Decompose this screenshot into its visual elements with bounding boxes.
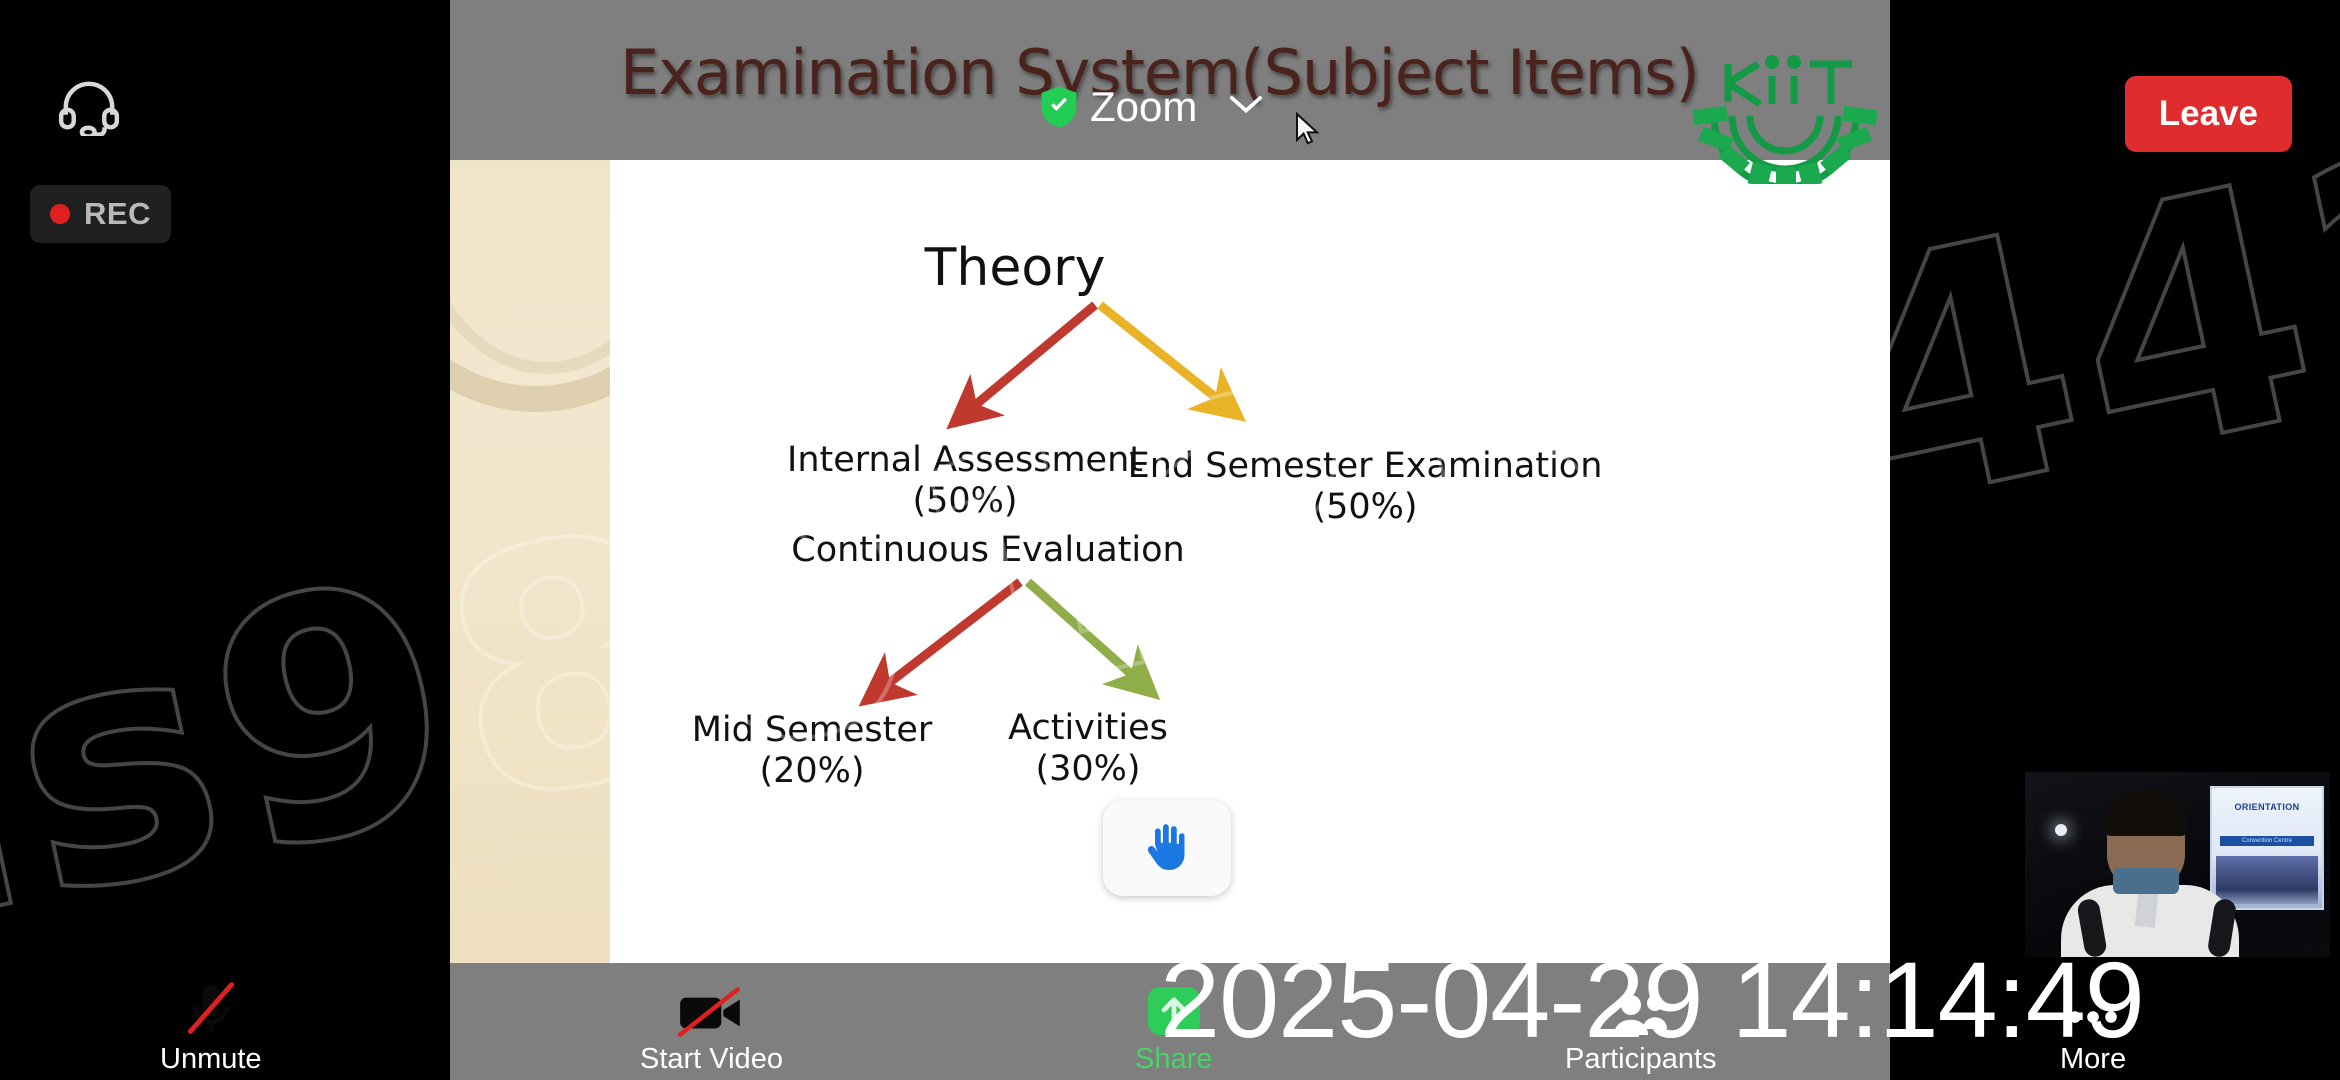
camera-off-icon [676,977,746,1039]
thumbnail-light-glow [2055,824,2067,836]
node-label: End Semester Examination [1128,446,1603,487]
thumbnail-slide-image [2216,856,2318,904]
share-screen-button[interactable]: Share [1135,977,1212,1074]
diagram-node-end-semester-examination: End Semester Examination (50%) [1128,446,1603,529]
thumbnail-slide-caption-bar: Convention Centre [2220,836,2314,846]
slide-title-layer: Examination System(Subject Items) [450,0,1890,160]
node-label: Internal Assessment [787,440,1143,481]
mouse-cursor [1295,112,1321,151]
node-percent: (50%) [1128,487,1603,528]
node-percent: (20%) [692,751,933,792]
unmute-button[interactable]: Unmute [160,977,262,1074]
thumbnail-slide-caption: Convention Centre [2220,836,2314,846]
headset-icon[interactable] [58,78,120,141]
thumbnail-slide-title: ORIENTATION [2212,802,2322,812]
leave-button[interactable]: Leave [2125,76,2292,152]
kiit-logo [1690,4,1880,184]
zoom-app-label-group[interactable]: Zoom [1040,86,1263,128]
start-video-button[interactable]: Start Video [640,977,783,1074]
recording-label: REC [84,196,151,232]
node-percent: (50%) [787,481,1143,522]
diagram-node-activities: Activities (30%) [1008,708,1168,791]
node-label: Continuous Evaluation [791,530,1184,571]
unmute-label: Unmute [160,1045,262,1074]
chevron-down-icon[interactable] [1229,94,1263,121]
participant-video-thumbnail[interactable]: ORIENTATION Convention Centre [2025,772,2330,957]
microphone-muted-icon [180,977,242,1039]
node-label: Theory [925,238,1106,299]
start-video-label: Start Video [640,1045,783,1074]
node-label: Activities [1008,708,1168,749]
more-options-button[interactable]: More [2060,977,2126,1074]
diagram-node-mid-semester: Mid Semester (20%) [692,710,933,793]
recording-dot-icon [50,204,70,224]
participants-button[interactable]: Participants [1565,977,1717,1074]
diagram-node-internal-assessment: Internal Assessment (50%) [787,440,1143,523]
thumbnail-projector-screen: ORIENTATION Convention Centre [2210,786,2324,910]
verified-shield-icon [1040,86,1078,128]
node-label: Mid Semester [692,710,933,751]
zoom-meeting-window: Theory Internal Assessment (50%) End Sem… [0,0,2340,1080]
more-dots-icon [2065,977,2121,1039]
diagram-node-continuous-evaluation: Continuous Evaluation [791,530,1184,571]
node-percent: (30%) [1008,749,1168,790]
more-label: More [2060,1045,2126,1074]
participants-label: Participants [1565,1045,1717,1074]
participants-icon [1611,977,1671,1039]
share-screen-icon [1145,977,1203,1039]
recording-badge: REC [30,185,171,243]
zoom-app-label: Zoom [1090,86,1197,128]
share-label: Share [1135,1045,1212,1074]
raise-hand-button[interactable] [1103,800,1231,896]
raised-hand-icon [1137,816,1197,880]
thumbnail-person-mask [2113,868,2179,894]
diagram-node-theory: Theory [925,238,1106,299]
